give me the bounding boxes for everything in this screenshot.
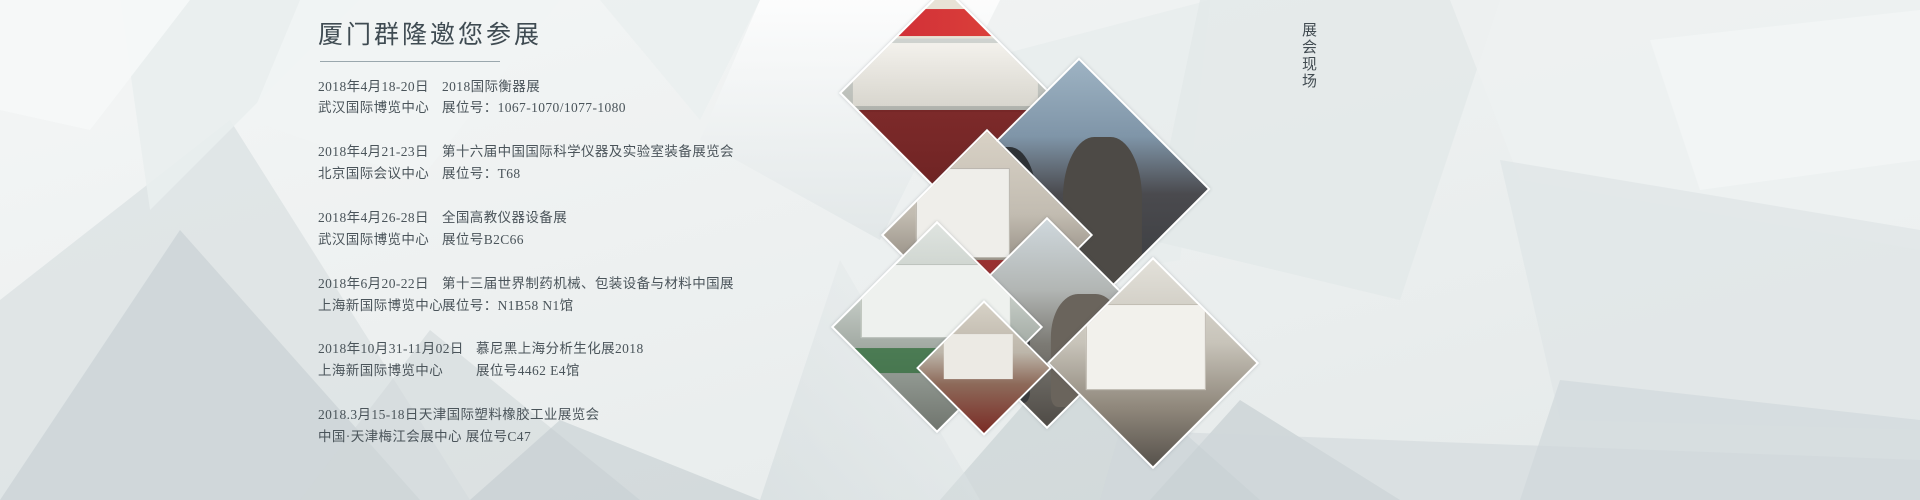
event-venue: 上海新国际博览中心: [318, 360, 476, 382]
vertical-section-label: 展会现场: [1292, 22, 1318, 90]
event-booth: 展位号：N1B58 N1馆: [442, 295, 574, 317]
event-date: 2018年10月31-11月02日: [318, 338, 476, 360]
event-venue: 武汉国际博览中心: [318, 229, 442, 251]
event-venue: 武汉国际博览中心: [318, 97, 442, 119]
event-venue: 北京国际会议中心: [318, 163, 442, 185]
event-date: 2018.3月15-18日天津国际塑料橡胶工业展览会: [318, 407, 600, 422]
event-date: 2018年6月20-22日: [318, 273, 442, 295]
event-date: 2018年4月26-28日: [318, 207, 442, 229]
event-venue: 中国·天津梅江会展中心: [318, 429, 462, 444]
photo-banner: [840, 9, 1050, 36]
event-booth: 展位号B2C66: [442, 229, 524, 251]
title-divider: [320, 61, 500, 62]
event-name: 全国高教仪器设备展: [442, 207, 567, 229]
event-date: 2018年4月18-20日: [318, 76, 442, 98]
event-name: 慕尼黑上海分析生化展2018: [476, 338, 644, 360]
photo-collage: [840, 0, 1240, 500]
event-venue: 上海新国际博览中心: [318, 295, 442, 317]
event-booth: 展位号4462 E4馆: [476, 360, 580, 382]
event-name: 2018国际衡器展: [442, 76, 540, 98]
event-name: 第十三届世界制药机械、包装设备与材料中国展: [442, 273, 734, 295]
event-booth: 展位号C47: [466, 429, 531, 444]
event-date: 2018年4月21-23日: [318, 141, 442, 163]
event-name: 第十六届中国国际科学仪器及实验室装备展览会: [442, 141, 734, 163]
event-booth: 展位号：1067-1070/1077-1080: [442, 97, 626, 119]
event-booth: 展位号：T68: [442, 163, 521, 185]
